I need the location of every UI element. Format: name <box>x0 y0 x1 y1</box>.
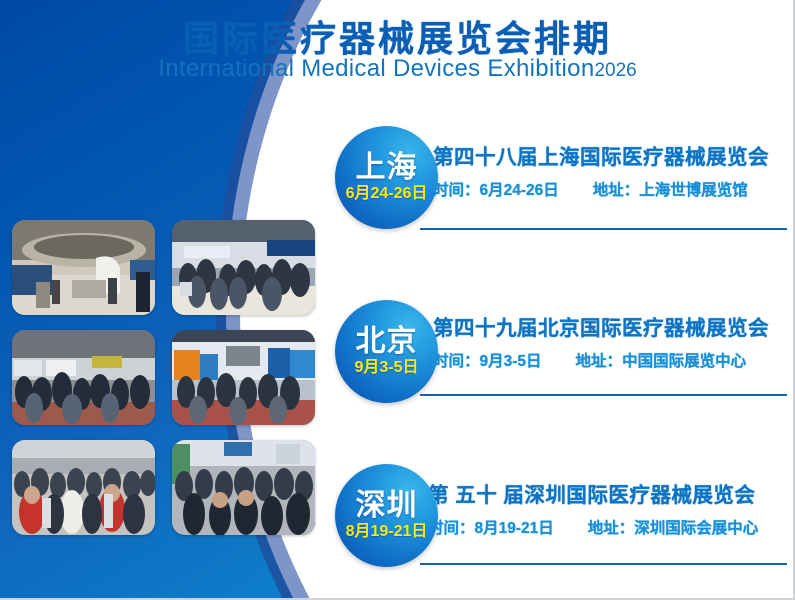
exhibition-meta: 时间：9月3-5日地址：中国国际展览中心 <box>433 349 769 371</box>
city-badge-beijing[interactable]: 北京 9月3-5日 <box>335 300 438 403</box>
city-badge-shanghai[interactable]: 上海 6月24-26日 <box>335 126 438 229</box>
gallery-photo <box>12 220 155 315</box>
city-badge-date: 6月24-26日 <box>346 185 428 203</box>
booth-crowd-photo-icon <box>172 220 315 315</box>
gallery-photo <box>172 440 315 535</box>
city-badge-name: 北京 <box>356 326 418 358</box>
row-divider <box>420 563 787 565</box>
city-badge-date: 8月19-21日 <box>346 523 428 541</box>
venue-value: 深圳国际会展中心 <box>634 520 758 537</box>
venue-label: 地址： <box>576 353 623 370</box>
venue-label: 地址： <box>588 520 635 537</box>
exhibition-meta: 时间：6月24-26日地址：上海世博展览馆 <box>433 178 769 200</box>
time-value: 6月24-26日 <box>480 182 559 199</box>
exhibition-row-beijing[interactable]: 第四十九届北京国际医疗器械展览会 时间：9月3-5日地址：中国国际展览中心 <box>433 311 769 371</box>
venue-value: 中国国际展览中心 <box>622 353 746 370</box>
row-divider <box>420 394 787 396</box>
gallery-photo <box>12 330 155 425</box>
city-badge-date: 9月3-5日 <box>354 359 418 377</box>
time-value: 8月19-21日 <box>475 520 554 537</box>
entry-queue-photo-icon <box>12 440 155 535</box>
time-value: 9月3-5日 <box>480 353 542 370</box>
city-badge-shenzhen[interactable]: 深圳 8月19-21日 <box>335 464 438 567</box>
exhibition-title: 第四十八届上海国际医疗器械展览会 <box>433 140 769 170</box>
poster-canvas: 国际医疗器械展览会排期 International Medical Device… <box>0 0 795 600</box>
exhibition-title: 第四十九届北京国际医疗器械展览会 <box>433 311 769 341</box>
gallery-photo <box>172 330 315 425</box>
exhibition-row-shenzhen[interactable]: 第 五十 届深圳国际医疗器械展览会 时间：8月19-21日地址：深圳国际会展中心 <box>428 478 758 538</box>
corridor-booths-photo-icon <box>172 330 315 425</box>
attendees-cluster-photo-icon <box>172 440 315 535</box>
time-label: 时间： <box>433 353 480 370</box>
exhibition-meta: 时间：8月19-21日地址：深圳国际会展中心 <box>428 516 758 538</box>
time-label: 时间： <box>433 182 480 199</box>
venue-value: 上海世博展览馆 <box>639 182 748 199</box>
gallery-photo <box>172 220 315 315</box>
venue-label: 地址： <box>593 182 640 199</box>
aisle-crowd-photo-icon <box>12 330 155 425</box>
exhibition-row-shanghai[interactable]: 第四十八届上海国际医疗器械展览会 时间：6月24-26日地址：上海世博展览馆 <box>433 140 769 200</box>
exhibition-title: 第 五十 届深圳国际医疗器械展览会 <box>428 478 758 508</box>
exhibition-hall-photo-icon <box>12 220 155 315</box>
city-badge-name: 上海 <box>356 152 418 184</box>
gallery-photo <box>12 440 155 535</box>
city-badge-name: 深圳 <box>356 490 418 522</box>
row-divider <box>420 228 787 230</box>
